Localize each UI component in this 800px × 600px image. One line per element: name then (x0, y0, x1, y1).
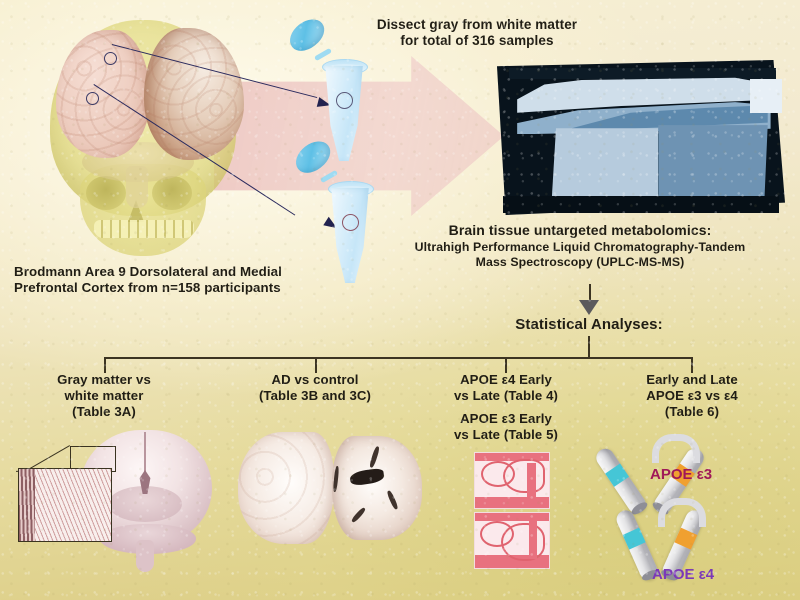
stats-bus (104, 357, 692, 359)
branch-gray-white (104, 357, 106, 373)
ad-control-line1: AD vs control (233, 372, 397, 388)
tube-sample-marker (342, 214, 359, 231)
microcentrifuge-tube-gray-matter (324, 44, 370, 169)
branch-apoe-early-late (505, 357, 507, 373)
analysis-apoe-early-vs-late-e4: APOE ε4 Early vs Late (Table 4) (428, 372, 584, 404)
apoe-e4-early-line2: vs Late (Table 4) (428, 388, 584, 404)
dissect-note: Dissect gray from white matter for total… (352, 17, 602, 50)
histology-section-top (474, 452, 550, 509)
branch-ad-control (315, 357, 317, 373)
e3-e4-line2: APOE ε3 vs ε4 (613, 388, 771, 404)
dissect-note-line1: Dissect gray from white matter (352, 17, 602, 33)
pointer-dot-white-matter (86, 92, 99, 105)
control-brain-section (238, 432, 334, 544)
eye-orbit-left (86, 176, 126, 210)
eye-orbit-right (152, 176, 192, 210)
instrument-door-left (552, 128, 659, 202)
brainstem-section (136, 540, 154, 572)
stain-band (474, 497, 550, 509)
apoe-e4-structure (620, 490, 740, 574)
e3-e4-line1: Early and Late (613, 372, 771, 388)
metabolomics-line2: Ultrahigh Performance Liquid Chromatogra… (400, 240, 760, 255)
teeth (94, 220, 194, 238)
widened-sulcus-4 (333, 466, 340, 492)
dissect-note-line2: for total of 316 samples (352, 33, 602, 49)
histology-section-bottom (474, 512, 550, 569)
stain-band (474, 452, 550, 461)
stats-stem (588, 336, 590, 358)
graphical-abstract: Dissect gray from white matter for total… (0, 0, 800, 600)
apoe-e3-early-line2: vs Late (Table 5) (428, 427, 584, 443)
apoe-e3-hinge (652, 434, 700, 463)
pointer-dot-gray-matter (104, 52, 117, 65)
e3-e4-line3: (Table 6) (613, 404, 771, 420)
cohort-line2: Prefrontal Cortex from n=158 participant… (14, 280, 334, 296)
enlarged-ventricle (349, 468, 385, 487)
widened-sulcus-2 (386, 490, 399, 510)
hippocampus-histology (474, 452, 548, 568)
analysis-apoe-early-vs-late-e3: APOE ε3 Early vs Late (Table 5) (428, 411, 584, 443)
apoe-e3-band-cyan (605, 464, 629, 487)
ad-control-line2: (Table 3B and 3C) (233, 388, 397, 404)
cortical-surface-edge (19, 469, 35, 541)
microcentrifuge-tube-white-matter (330, 166, 376, 291)
instrument-panel-corner (750, 79, 782, 113)
ad-brain-section (332, 436, 422, 540)
ad-vs-control-sections (236, 428, 426, 550)
instrument-base (503, 196, 779, 213)
apoe-e4-band-orange (674, 528, 697, 550)
analysis-early-late-e3-vs-e4: Early and Late APOE ε3 vs ε4 (Table 6) (613, 372, 771, 420)
apoe-e4-hinge (658, 498, 706, 527)
arrowhead-to-stats (579, 300, 599, 315)
tube-body (330, 188, 370, 284)
branch-e3-vs-e4 (691, 357, 693, 373)
gray-white-line1: Gray matter vs (24, 372, 184, 388)
statistical-analyses-heading: Statistical Analyses: (489, 316, 689, 334)
tube-sample-marker (336, 92, 353, 109)
widened-sulcus-3 (351, 507, 367, 524)
analysis-ad-vs-control: AD vs control (Table 3B and 3C) (233, 372, 397, 404)
stain-band (474, 512, 550, 521)
apoe-e4-band-cyan (623, 528, 646, 550)
cohort-line1: Brodmann Area 9 Dorsolateral and Medial (14, 264, 334, 280)
apoe-e3-label: APOE ε3 (650, 466, 712, 483)
metabolomics-line1: Brain tissue untargeted metabolomics: (400, 222, 760, 239)
gray-white-line2: white matter (24, 388, 184, 404)
metabolomics-line3: Mass Spectroscopy (UPLC-MS-MS) (400, 255, 760, 270)
apoe-e4-early-line1: APOE ε4 Early (428, 372, 584, 388)
mass-spectrometer-illustration (497, 60, 785, 215)
widened-sulcus-1 (369, 446, 381, 468)
stain-band (527, 463, 536, 503)
cornu-ammonis-curve (503, 459, 545, 493)
tube-cap-hinge (314, 48, 332, 61)
metabolomics-caption: Brain tissue untargeted metabolomics: Ul… (400, 222, 760, 270)
cornu-ammonis-curve (501, 523, 545, 561)
apoe-e3-early-line1: APOE ε3 Early (428, 411, 584, 427)
instrument-top-bar (509, 68, 777, 79)
brain-hemisphere-right (144, 28, 244, 160)
stain-band (529, 521, 537, 559)
analysis-gray-vs-white: Gray matter vs white matter (Table 3A) (24, 372, 184, 420)
coronal-brain-section (18, 428, 224, 573)
instrument-door-right (658, 125, 767, 203)
gray-white-line3: (Table 3A) (24, 404, 184, 420)
cortical-layers-inset (18, 468, 112, 542)
statistical-analyses-label: Statistical Analyses: (489, 316, 689, 334)
brainstem (126, 166, 148, 208)
cohort-caption: Brodmann Area 9 Dorsolateral and Medial … (14, 264, 334, 296)
apoe-e4-label: APOE ε4 (652, 566, 714, 583)
